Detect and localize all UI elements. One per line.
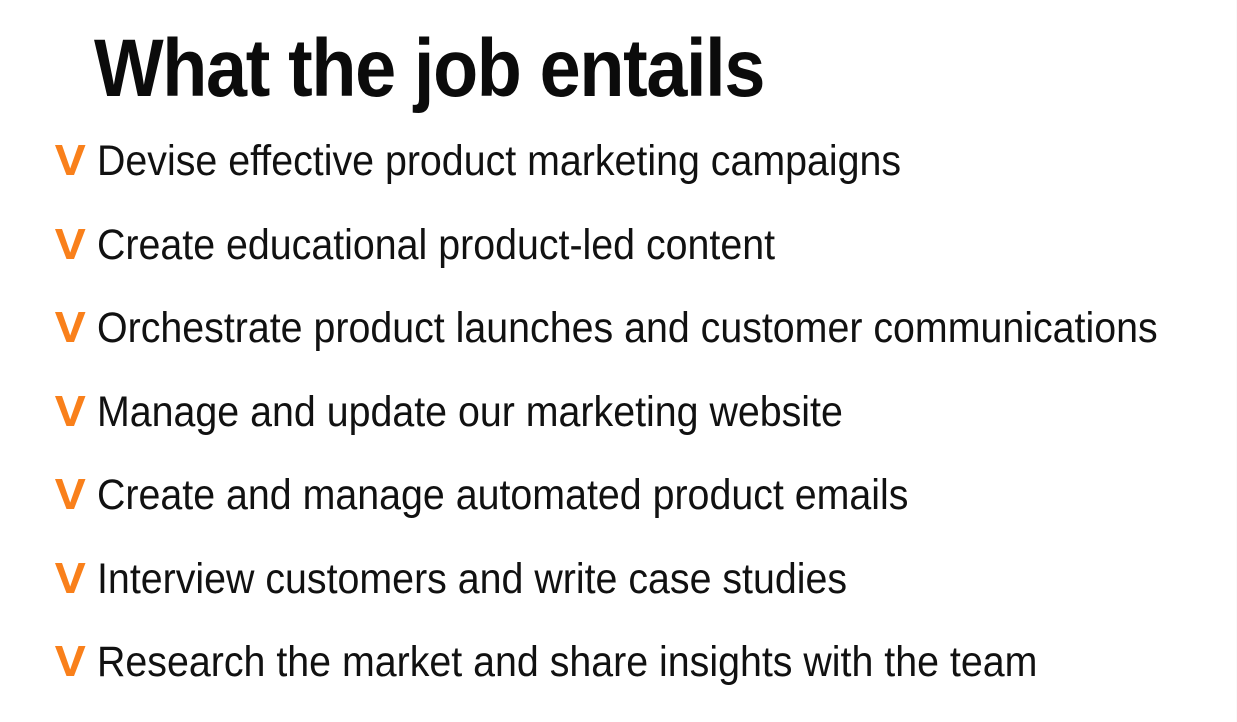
check-mark-icon [53, 476, 87, 514]
list-item-label: Devise effective product marketing campa… [97, 136, 901, 186]
list-item-label: Create and manage automated product emai… [97, 470, 908, 520]
check-mark-icon [53, 142, 87, 180]
list-item-label: Research the market and share insights w… [97, 637, 1037, 687]
list-item-label: Orchestrate product launches and custome… [97, 303, 1158, 353]
list-item-label: Interview customers and write case studi… [97, 554, 847, 604]
list-item: Create educational product-led content [0, 218, 1237, 302]
list-item: Research the market and share insights w… [0, 635, 1237, 719]
check-mark-icon [53, 643, 87, 681]
list-item: Create and manage automated product emai… [0, 468, 1237, 552]
job-responsibilities-list: Devise effective product marketing campa… [0, 134, 1237, 719]
check-mark-icon [53, 226, 87, 264]
list-item: Orchestrate product launches and custome… [0, 301, 1237, 385]
list-item: Devise effective product marketing campa… [0, 134, 1237, 218]
list-item-label: Manage and update our marketing website [97, 387, 843, 437]
list-item: Manage and update our marketing website [0, 385, 1237, 469]
check-mark-icon [53, 309, 87, 347]
page-title: What the job entails [94, 21, 764, 117]
list-item-label: Create educational product-led content [97, 220, 775, 270]
check-mark-icon [53, 560, 87, 598]
list-item: Interview customers and write case studi… [0, 552, 1237, 636]
slide-canvas: What the job entails Devise effective pr… [0, 0, 1237, 722]
check-mark-icon [53, 393, 87, 431]
